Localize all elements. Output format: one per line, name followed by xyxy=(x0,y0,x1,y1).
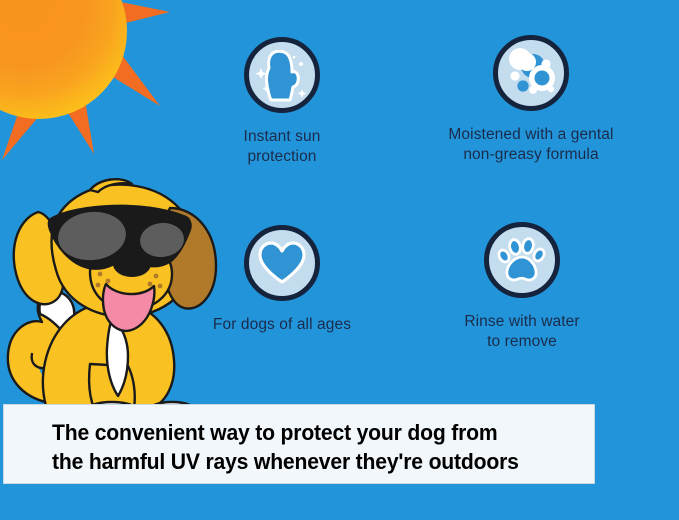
badge-circle-2 xyxy=(493,35,569,111)
badge-circle-1 xyxy=(244,37,320,113)
banner-headline: The convenient way to protect your dog f… xyxy=(52,418,519,477)
paw-print-icon xyxy=(489,227,555,293)
sun-illustration xyxy=(0,0,174,166)
feature-label-3: For dogs of all ages xyxy=(186,315,378,335)
feature-instant-sun-protection: Instant sun protection xyxy=(186,37,378,167)
dog-silhouette-sparkle-icon xyxy=(249,42,315,108)
feature-label-4: Rinse with water to remove xyxy=(425,312,619,352)
badge-circle-3 xyxy=(244,225,320,301)
badge-circle-4 xyxy=(484,222,560,298)
water-bubbles-icon xyxy=(498,40,564,106)
sun-disc xyxy=(0,0,127,119)
heart-icon xyxy=(249,230,315,296)
feature-rinse-with-water: Rinse with water to remove xyxy=(425,222,619,352)
feature-for-all-ages: For dogs of all ages xyxy=(186,225,378,335)
promo-graphic-canvas: Instant sun protection Moistened w xyxy=(0,0,679,520)
feature-label-1: Instant sun protection xyxy=(186,127,378,167)
bottom-banner-panel: The convenient way to protect your dog f… xyxy=(3,404,595,484)
sun-rays-icon xyxy=(0,0,174,166)
feature-label-2: Moistened with a gental non-greasy formu… xyxy=(418,125,644,165)
feature-moistened-non-greasy: Moistened with a gental non-greasy formu… xyxy=(418,35,644,165)
